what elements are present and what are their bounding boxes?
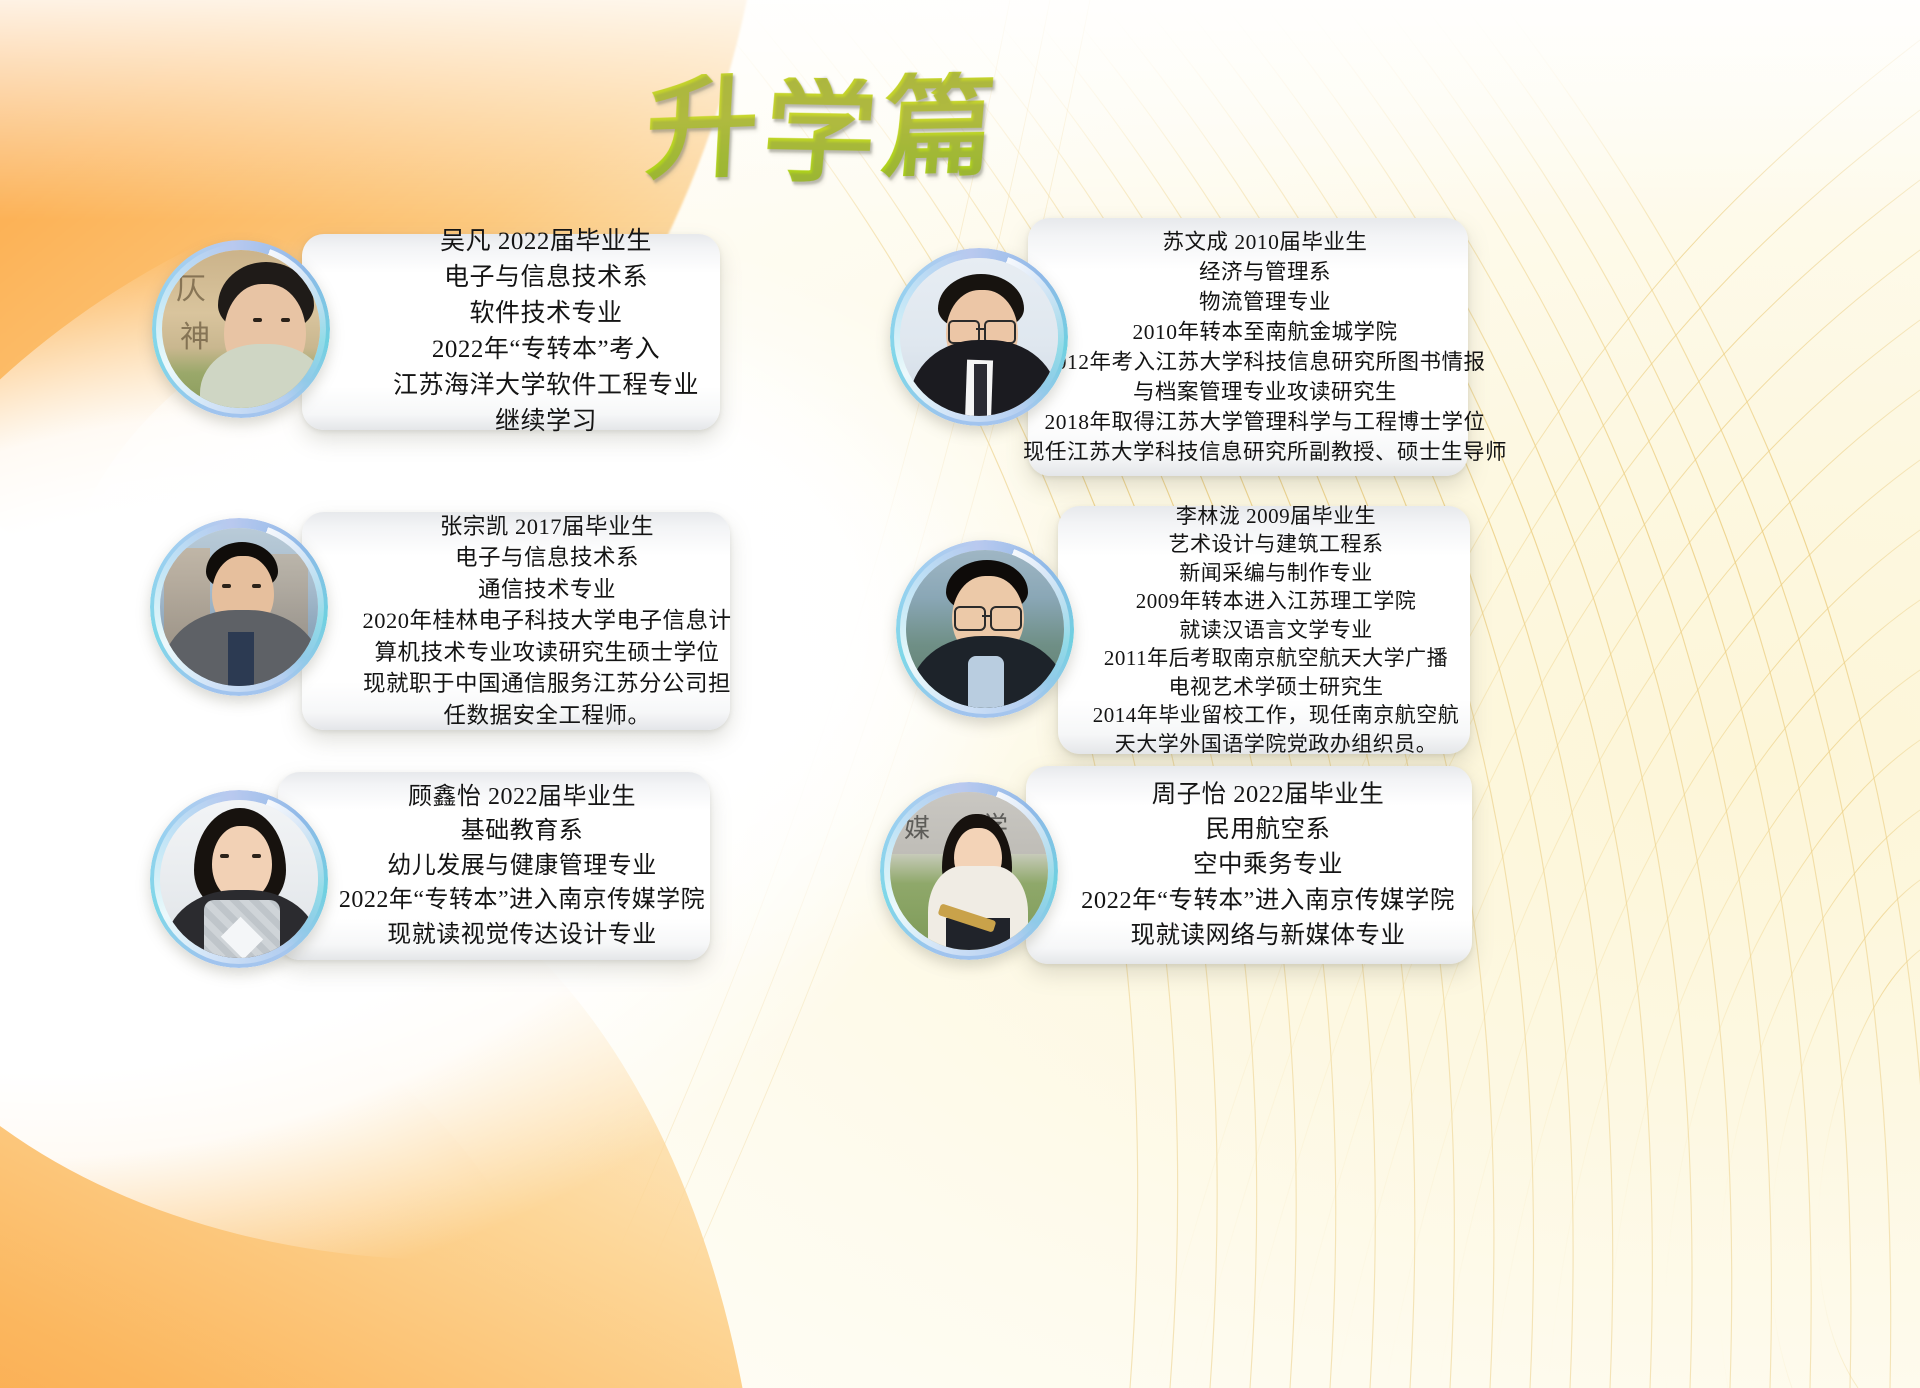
- entry-text-zhang-zongkai: 张宗凯 2017届毕业生 电子与信息技术系 通信技术专业 2020年桂林电子科技…: [302, 512, 730, 730]
- entry-line: 2009年转本进入江苏理工学院: [1136, 587, 1417, 616]
- entry-text-zhou-ziyi: 周子怡 2022届毕业生 民用航空系 空中乘务专业 2022年“专转本”进入南京…: [1026, 766, 1472, 964]
- entry-line: 2014年毕业留校工作，现任南京航空航: [1093, 701, 1460, 730]
- avatar-gu-xinyi: [150, 790, 328, 968]
- entry-card-wu-fan: 吴凡 2022届毕业生 电子与信息技术系 软件技术专业 2022年“专转本”考入…: [302, 234, 720, 430]
- entry-line: 2020年桂林电子科技大学电子信息计: [363, 605, 732, 637]
- entry-line: 通信技术专业: [478, 574, 616, 606]
- avatar-zhou-ziyi: 媒 学: [880, 782, 1058, 960]
- entry-line: 吴凡 2022届毕业生: [440, 224, 652, 260]
- avatar-su-wencheng: [890, 248, 1068, 426]
- entry-line: 现就职于中国通信服务江苏分公司担: [363, 668, 731, 700]
- entry-card-zhang-zongkai: 张宗凯 2017届毕业生 电子与信息技术系 通信技术专业 2020年桂林电子科技…: [302, 512, 730, 730]
- entry-line: 艺术设计与建筑工程系: [1169, 530, 1384, 559]
- entry-line: 现任江苏大学科技信息研究所副教授、硕士生导师: [1023, 437, 1507, 467]
- entry-line: 空中乘务专业: [1193, 847, 1343, 882]
- entry-line: 电子与信息技术系: [444, 260, 648, 296]
- avatar-photo: [160, 528, 318, 686]
- entry-text-su-wencheng: 苏文成 2010届毕业生 经济与管理系 物流管理专业 2010年转本至南航金城学…: [1028, 218, 1468, 476]
- entry-line: 现就读视觉传达设计专业: [387, 918, 657, 953]
- entry-line: 经济与管理系: [1199, 257, 1331, 287]
- entry-line: 2011年后考取南京航空航天大学广播: [1104, 644, 1448, 673]
- entry-card-zhou-ziyi: 周子怡 2022届毕业生 民用航空系 空中乘务专业 2022年“专转本”进入南京…: [1026, 766, 1472, 964]
- entry-line: 电子与信息技术系: [455, 542, 639, 574]
- entry-line: 2012年考入江苏大学科技信息研究所图书情报: [1045, 347, 1486, 377]
- page-title: 升 学 篇: [620, 55, 1020, 205]
- entry-text-gu-xinyi: 顾鑫怡 2022届毕业生 基础教育系 幼儿发展与健康管理专业 2022年“专转本…: [278, 772, 710, 960]
- poster-canvas: 升 学 篇 吴凡 2022届毕业生 电子与信息技术系 软件技术专业 2022年“…: [0, 0, 1920, 1388]
- entry-line: 继续学习: [495, 404, 597, 440]
- entry-line: 周子怡 2022届毕业生: [1152, 777, 1385, 812]
- title-char-2: 学: [759, 77, 881, 191]
- entry-line: 苏文成 2010届毕业生: [1163, 227, 1368, 257]
- avatar-photo: [160, 800, 318, 958]
- entry-line: 与档案管理专业攻读研究生: [1133, 377, 1397, 407]
- avatar-photo: 仄 神: [162, 250, 320, 408]
- entry-line: 幼儿发展与健康管理专业: [387, 849, 657, 884]
- entry-line: 2022年“专转本”考入: [432, 332, 660, 368]
- entry-card-gu-xinyi: 顾鑫怡 2022届毕业生 基础教育系 幼儿发展与健康管理专业 2022年“专转本…: [278, 772, 710, 960]
- entry-card-su-wencheng: 苏文成 2010届毕业生 经济与管理系 物流管理专业 2010年转本至南航金城学…: [1028, 218, 1468, 476]
- entry-card-li-linlong: 李林泷 2009届毕业生 艺术设计与建筑工程系 新闻采编与制作专业 2009年转…: [1058, 506, 1470, 754]
- entry-text-wu-fan: 吴凡 2022届毕业生 电子与信息技术系 软件技术专业 2022年“专转本”考入…: [302, 234, 720, 430]
- avatar-zhang-zongkai: [150, 518, 328, 696]
- entry-line: 新闻采编与制作专业: [1179, 559, 1373, 588]
- entry-line: 2022年“专转本”进入南京传媒学院: [339, 883, 705, 918]
- entry-line: 现就读网络与新媒体专业: [1131, 918, 1406, 953]
- entry-line: 江苏海洋大学软件工程专业: [393, 368, 699, 404]
- entry-line: 电视艺术学硕士研究生: [1169, 673, 1384, 702]
- entry-line: 天大学外国语学院党政办组织员。: [1115, 730, 1438, 759]
- avatar-wu-fan: 仄 神: [152, 240, 330, 418]
- entry-line: 软件技术专业: [469, 296, 622, 332]
- entry-text-li-linlong: 李林泷 2009届毕业生 艺术设计与建筑工程系 新闻采编与制作专业 2009年转…: [1058, 506, 1470, 754]
- entry-line: 李林泷 2009届毕业生: [1176, 502, 1376, 531]
- avatar-photo: [906, 550, 1064, 708]
- entry-line: 2018年取得江苏大学管理科学与工程博士学位: [1045, 407, 1486, 437]
- entry-line: 物流管理专业: [1199, 287, 1331, 317]
- entry-line: 顾鑫怡 2022届毕业生: [408, 780, 636, 815]
- entry-line: 就读汉语言文学专业: [1179, 616, 1373, 645]
- entry-line: 2010年转本至南航金城学院: [1132, 317, 1397, 347]
- title-char-3: 篇: [877, 71, 999, 185]
- entry-line: 任数据安全工程师。: [443, 700, 650, 732]
- avatar-photo: 媒 学: [890, 792, 1048, 950]
- avatar-li-linlong: [896, 540, 1074, 718]
- entry-line: 算机技术专业攻读研究生硕士学位: [374, 637, 719, 669]
- title-char-1: 升: [643, 72, 761, 188]
- entry-line: 基础教育系: [461, 814, 584, 849]
- avatar-photo: [900, 258, 1058, 416]
- entry-line: 2022年“专转本”进入南京传媒学院: [1081, 883, 1455, 918]
- entry-line: 张宗凯 2017届毕业生: [440, 511, 654, 543]
- entry-line: 民用航空系: [1206, 812, 1331, 847]
